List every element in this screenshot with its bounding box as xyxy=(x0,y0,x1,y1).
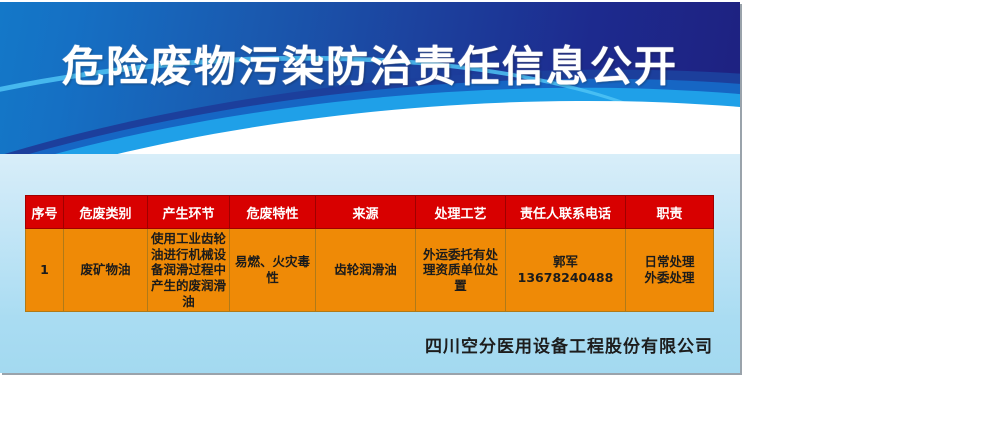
duty-line-1: 日常处理 xyxy=(629,254,710,270)
cell-contact: 郭军 13678240488 xyxy=(506,229,626,312)
column-header-stage: 产生环节 xyxy=(148,196,230,229)
cell-category: 废矿物油 xyxy=(64,229,148,312)
table-header-row: 序号 危废类别 产生环节 危废特性 来源 处理工艺 责任人联系电话 职责 xyxy=(26,196,714,229)
cell-index: 1 xyxy=(26,229,64,312)
column-header-process: 处理工艺 xyxy=(416,196,506,229)
column-header-contact: 责任人联系电话 xyxy=(506,196,626,229)
duty-line-2: 外委处理 xyxy=(629,270,710,286)
cell-property: 易燃、火灾毒性 xyxy=(230,229,316,312)
contact-phone: 13678240488 xyxy=(509,270,622,286)
company-name: 四川空分医用设备工程股份有限公司 xyxy=(0,332,713,357)
column-header-duty: 职责 xyxy=(626,196,714,229)
cell-source: 齿轮润滑油 xyxy=(316,229,416,312)
column-header-property: 危废特性 xyxy=(230,196,316,229)
information-disclosure-poster: 危险废物污染防治责任信息公开 序号 危废类别 产生环节 危废特性 来源 处理工艺… xyxy=(0,2,740,373)
cell-process: 外运委托有处理资质单位处置 xyxy=(416,229,506,312)
poster-banner: 危险废物污染防治责任信息公开 xyxy=(0,2,740,154)
cell-duty: 日常处理 外委处理 xyxy=(626,229,714,312)
column-header-category: 危废类别 xyxy=(64,196,148,229)
table-row: 1 废矿物油 使用工业齿轮油进行机械设备润滑过程中产生的废润滑油 易燃、火灾毒性… xyxy=(26,229,714,312)
column-header-index: 序号 xyxy=(26,196,64,229)
cell-stage: 使用工业齿轮油进行机械设备润滑过程中产生的废润滑油 xyxy=(148,229,230,312)
hazardous-waste-table: 序号 危废类别 产生环节 危废特性 来源 处理工艺 责任人联系电话 职责 1 废… xyxy=(25,195,714,312)
column-header-source: 来源 xyxy=(316,196,416,229)
poster-title: 危险废物污染防治责任信息公开 xyxy=(0,46,740,88)
contact-name: 郭军 xyxy=(509,254,622,270)
